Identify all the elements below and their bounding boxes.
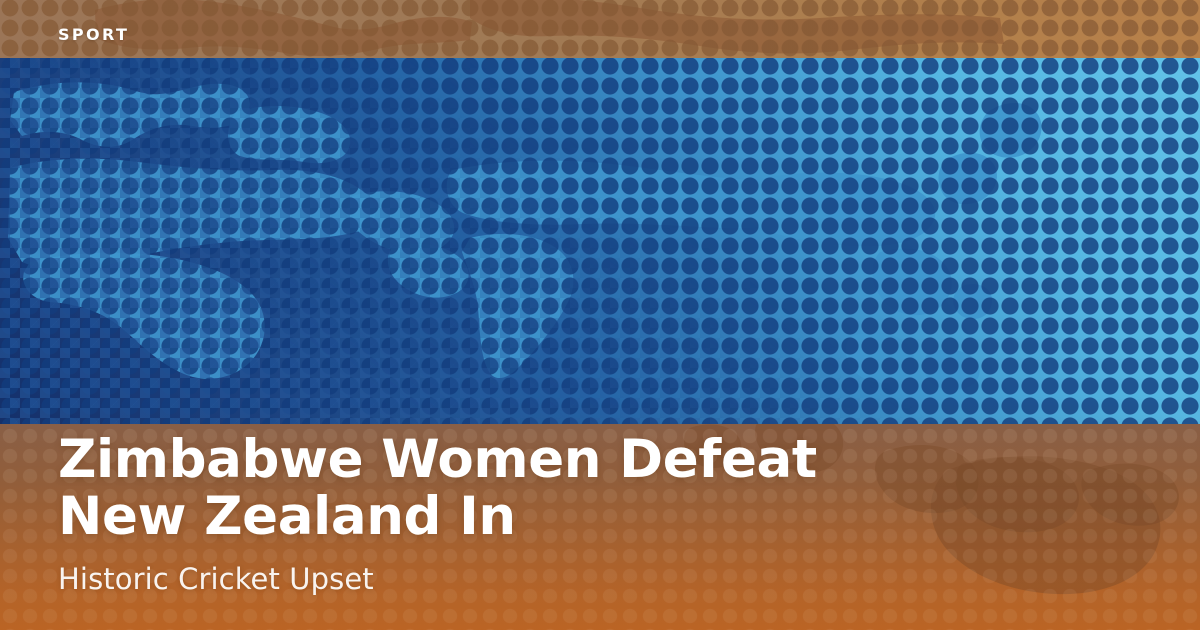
blue-band-map-clip [0, 58, 1200, 424]
page-title: Zimbabwe Women Defeat New Zealand In [58, 431, 1140, 545]
top-brown-band [0, 0, 1200, 58]
world-map-graphic-blue [0, 58, 1200, 424]
world-map-graphic-top [0, 0, 1200, 58]
blue-map-band [0, 58, 1200, 424]
headline-block: Zimbabwe Women Defeat New Zealand In His… [58, 431, 1140, 596]
category-kicker: SPORT [58, 25, 129, 44]
page-subtitle: Historic Cricket Upset [58, 562, 1140, 596]
top-band-map-clip [0, 0, 1200, 58]
social-share-card: SPORT Zimbabwe Women Defeat New Zealand … [0, 0, 1200, 630]
